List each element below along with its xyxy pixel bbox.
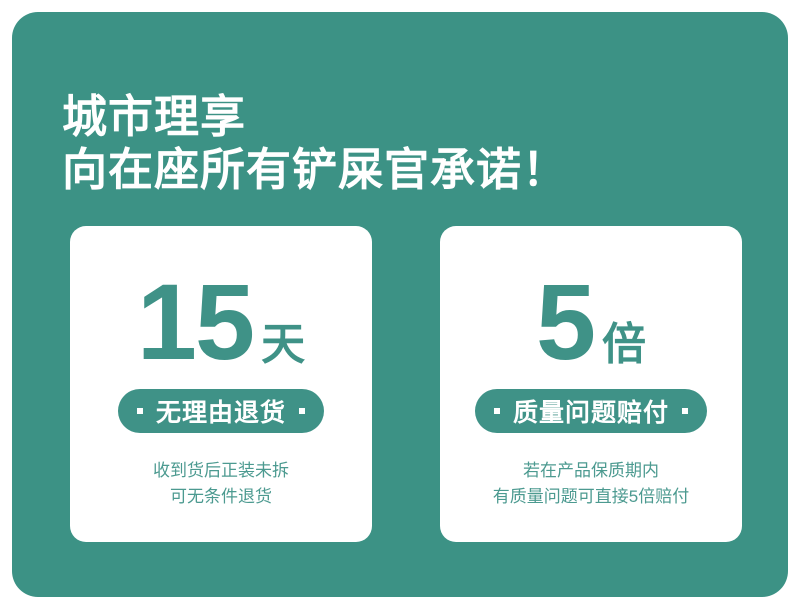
pill-label: 无理由退货 <box>156 393 286 429</box>
pill-dot-left-icon <box>137 408 143 414</box>
headline-line-2: 向在座所有铲屎官承诺！ <box>62 143 568 196</box>
description-line-2: 有质量问题可直接5倍赔付 <box>440 484 742 510</box>
pill-dot-right-icon <box>299 408 305 414</box>
banner-headline: 城市理享 向在座所有铲屎官承诺！ <box>62 90 568 196</box>
amount-display: 15 天 <box>70 268 372 376</box>
amount-unit: 倍 <box>602 323 646 367</box>
description-line-1: 若在产品保质期内 <box>440 458 742 484</box>
promise-description: 收到货后正装未拆 可无条件退货 <box>70 458 372 510</box>
amount-number: 15 <box>137 268 253 376</box>
pill-dot-right-icon <box>682 408 688 414</box>
amount-unit: 天 <box>261 323 305 367</box>
promise-pill-badge: 无理由退货 <box>118 389 324 433</box>
promise-card-list: 15 天 无理由退货 收到货后正装未拆 可无条件退货 5 倍 质量问题赔付 <box>70 226 742 556</box>
pill-dot-left-icon <box>494 408 500 414</box>
promise-card-compensation[interactable]: 5 倍 质量问题赔付 若在产品保质期内 有质量问题可直接5倍赔付 <box>440 226 742 542</box>
pill-label: 质量问题赔付 <box>513 393 669 429</box>
promise-banner: 城市理享 向在座所有铲屎官承诺！ 15 天 无理由退货 收到货后正装未拆 可无条… <box>12 12 788 597</box>
headline-line-1: 城市理享 <box>62 90 568 143</box>
promise-pill-badge: 质量问题赔付 <box>475 389 707 433</box>
amount-number: 5 <box>536 268 594 376</box>
description-line-2: 可无条件退货 <box>70 484 372 510</box>
promise-card-return[interactable]: 15 天 无理由退货 收到货后正装未拆 可无条件退货 <box>70 226 372 542</box>
amount-display: 5 倍 <box>440 268 742 376</box>
description-line-1: 收到货后正装未拆 <box>70 458 372 484</box>
promise-description: 若在产品保质期内 有质量问题可直接5倍赔付 <box>440 458 742 510</box>
